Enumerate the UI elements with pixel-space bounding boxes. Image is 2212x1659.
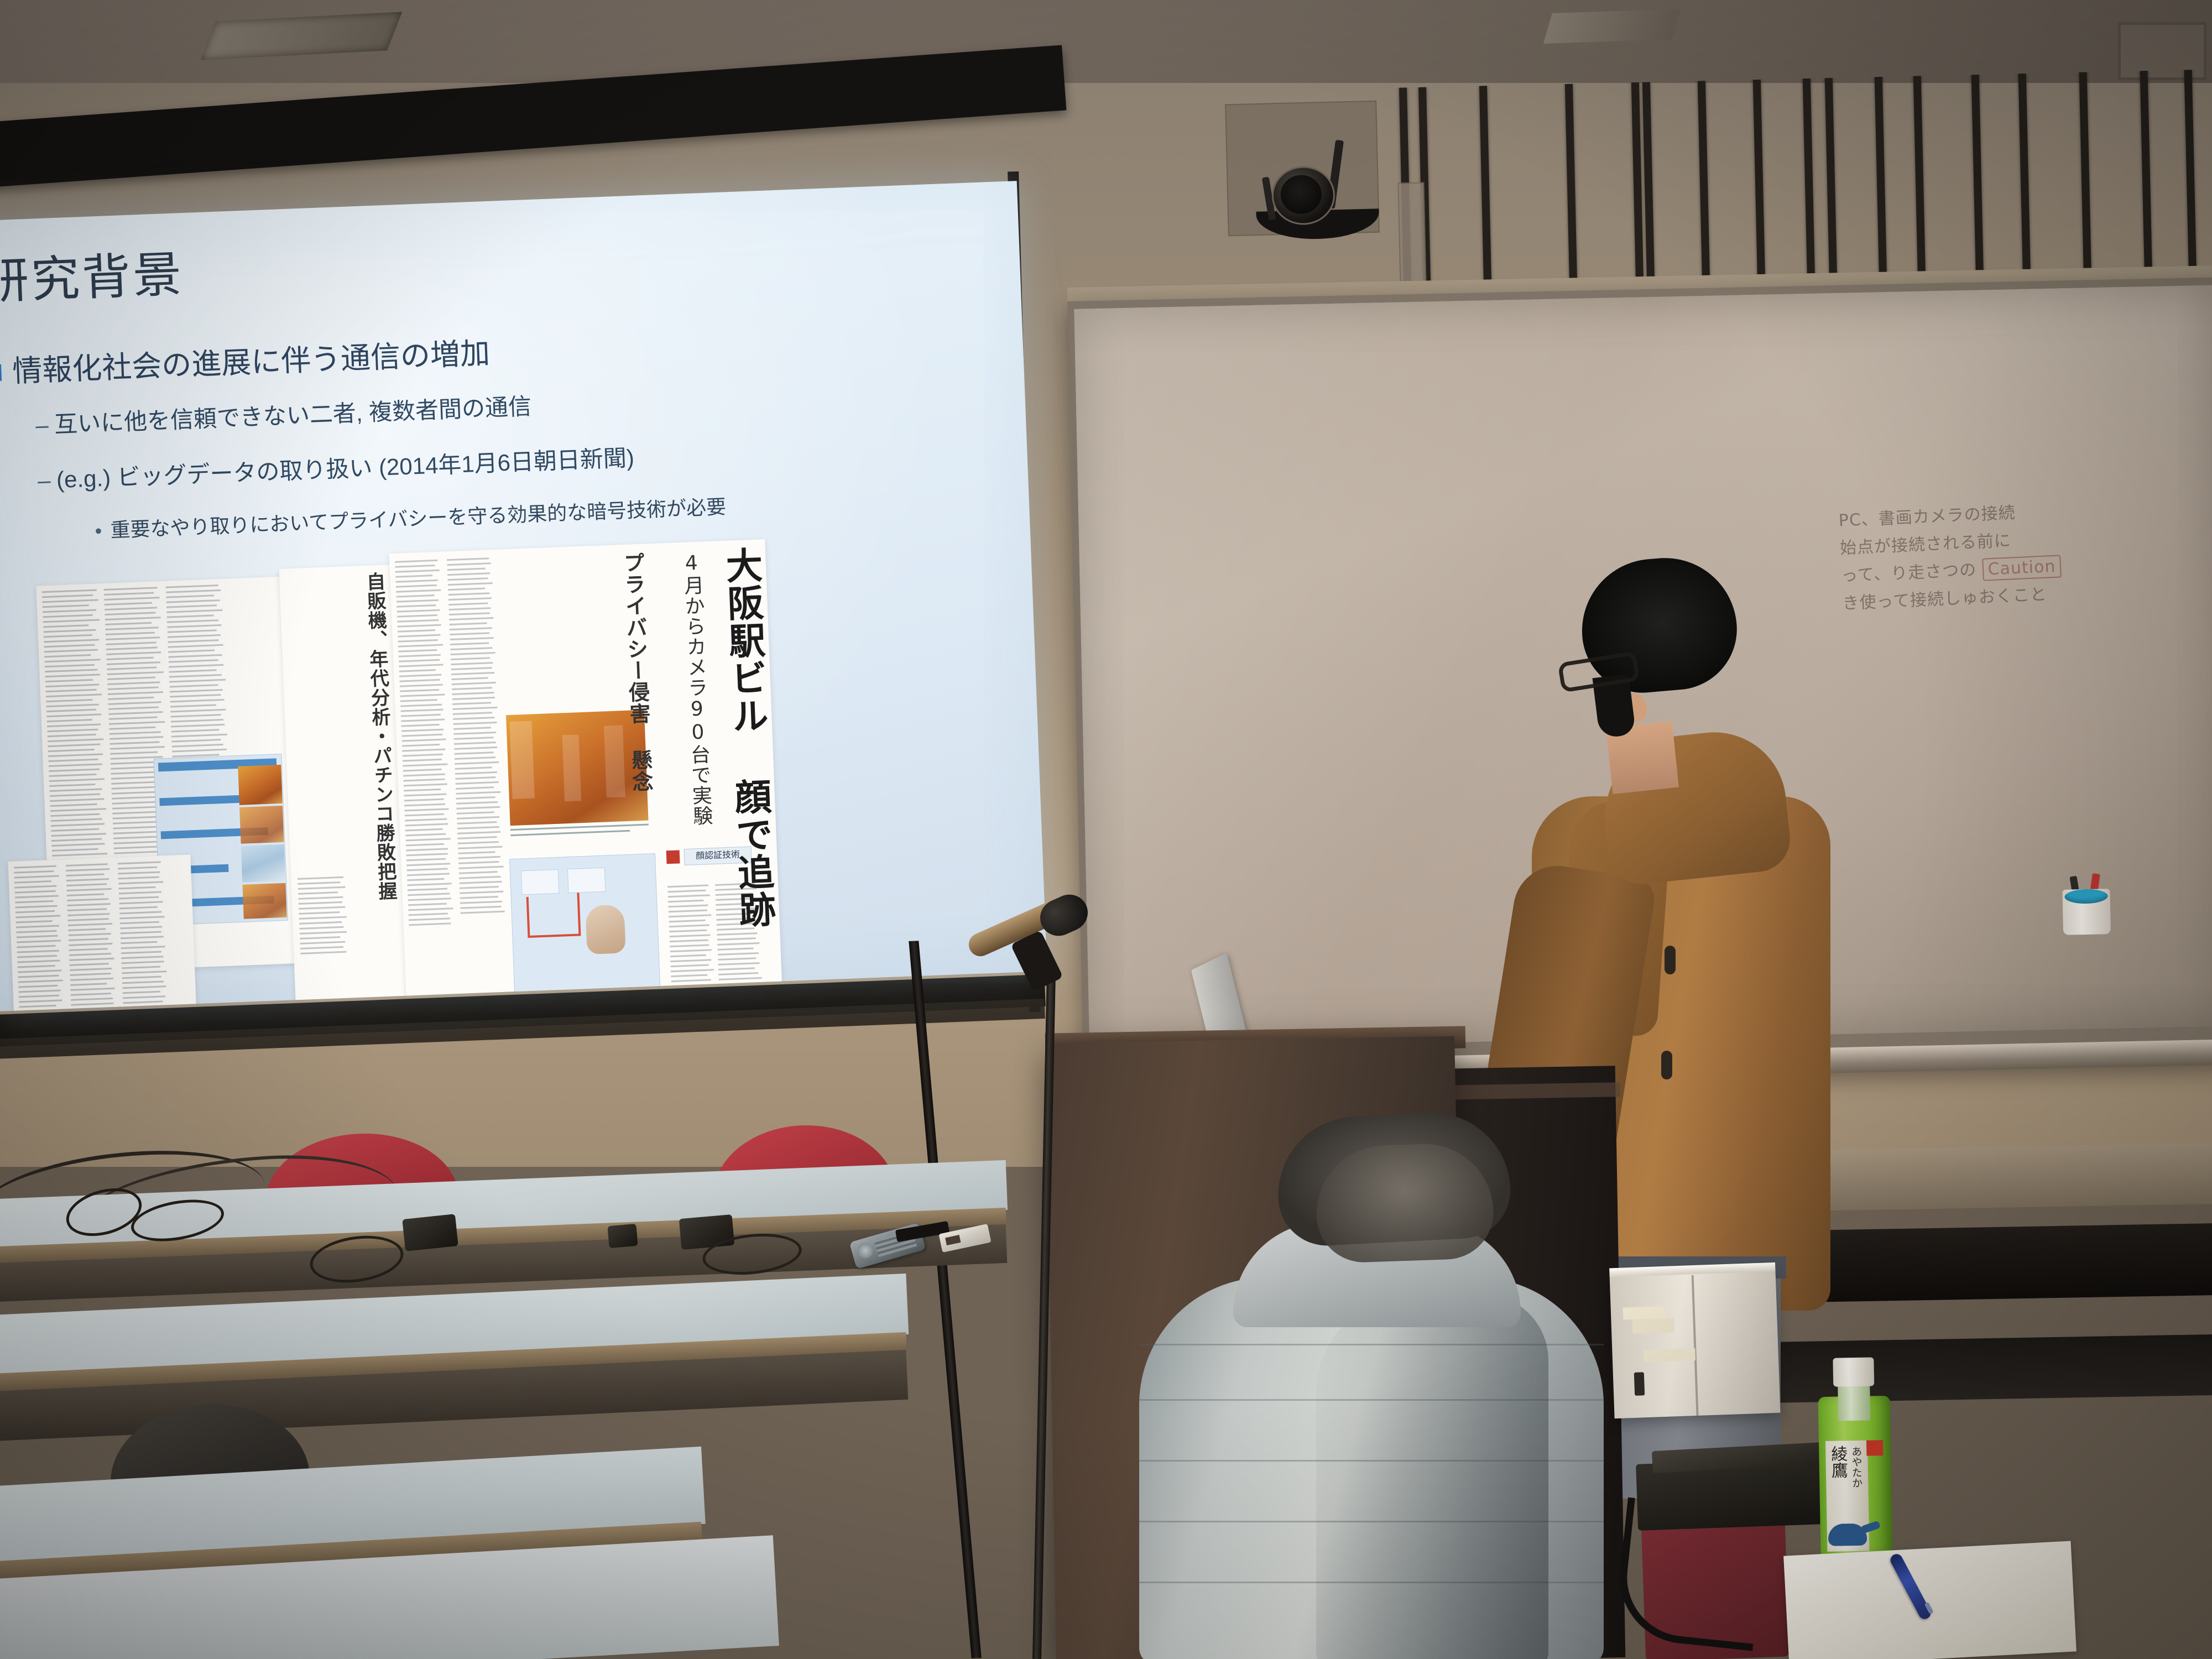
newspaper-clipping-collage: 「目的わからず嫌」 顔データこっそり収集 自販機、年代分析・パチンコ勝敗把握 <box>35 545 776 1011</box>
lecture-room-photo: PC、書画カメラの接続 始点が接続される前に って、り走さつの Caution … <box>0 0 2212 1659</box>
dot-marker-icon: • <box>95 519 111 542</box>
newspaper-clip-left-sub: 自販機、年代分析・パチンコ勝敗把握 <box>279 565 407 1011</box>
acoustic-slat <box>2184 70 2197 291</box>
coat-toggle-icon <box>1661 1051 1672 1079</box>
marker-cup[interactable] <box>2062 879 2111 935</box>
audience-jacket-shadow <box>1316 1294 1548 1659</box>
power-adapter <box>402 1214 458 1251</box>
dash-marker-icon: – <box>35 411 55 439</box>
acoustic-slat <box>1698 81 1710 302</box>
acoustic-slat <box>1971 75 1984 296</box>
acoustic-slat <box>2140 71 2153 292</box>
projection-screen: 研究背景 情報化社会の進展に伴う通信の増加 –互いに他を信頼できない二者, 複数… <box>0 181 1047 1011</box>
dash-marker-icon: – <box>37 467 57 494</box>
acoustic-slat <box>1825 78 1838 299</box>
acoustic-slat <box>1753 80 1766 301</box>
acoustic-slat <box>1479 86 1492 307</box>
newspaper-clip-right: 顔認証技術 プライバシー侵害 懸念 4月からカメラ90台で実験 大阪駅ビル 顔で… <box>389 539 788 1011</box>
acoustic-slat <box>1913 76 1926 297</box>
bullet-square-icon <box>0 364 2 382</box>
newspaper-left-subheadline: 自販機、年代分析・パチンコ勝敗把握 <box>363 572 396 901</box>
acoustic-slat <box>1803 79 1815 300</box>
acoustic-slat <box>1875 77 1887 298</box>
slide-title: 研究背景 <box>0 235 185 313</box>
newspaper-clip-bottom-left <box>8 854 202 1011</box>
bottle-cap <box>1833 1357 1874 1386</box>
bottle-brand-kanji: 綾鷹 <box>1829 1445 1846 1479</box>
newspaper-main-headline: 大阪駅ビル 顔で追跡 <box>721 546 774 929</box>
acoustic-slat <box>1565 84 1578 305</box>
white-note-paper[interactable] <box>1783 1541 2077 1659</box>
acoustic-slat <box>1642 82 1655 303</box>
remote-navigation-disc <box>855 1241 875 1260</box>
equipment-box-seam <box>1692 1275 1699 1416</box>
bottle-brand-kana: あやたか <box>1850 1446 1861 1488</box>
usb-connector-slot <box>945 1235 961 1245</box>
power-adapter <box>607 1224 638 1248</box>
ceiling-vent-secondary <box>1543 9 1681 44</box>
acoustic-slat <box>2018 74 2031 295</box>
seated-audience-member <box>1095 1112 1681 1659</box>
newspaper-main-subheadline: 4月からカメラ90台で実験 <box>680 551 712 826</box>
acoustic-slat <box>2079 72 2092 293</box>
ptz-camera-icon <box>1266 165 1364 231</box>
caution-boxed-note: Caution <box>1982 555 2062 581</box>
acoustic-slat <box>1631 82 1644 304</box>
bottle-red-mark <box>1866 1440 1883 1456</box>
coat-toggle-icon <box>1665 946 1676 974</box>
